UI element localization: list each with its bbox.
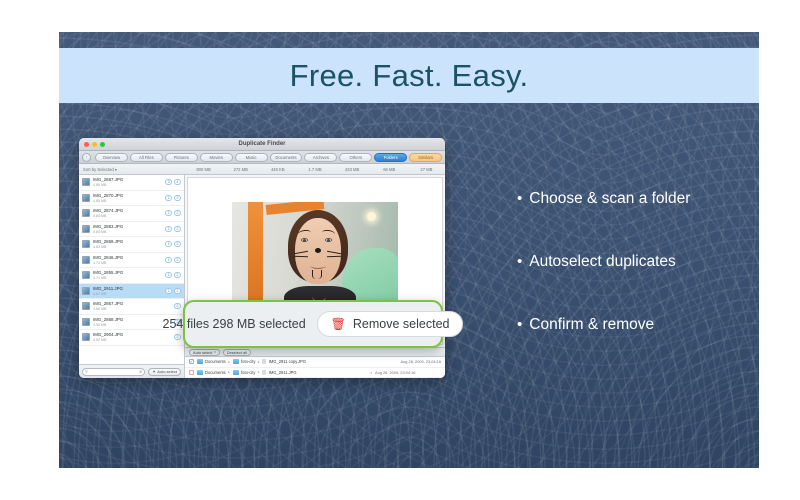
file-name: IMG_2874.JPG: [93, 208, 123, 213]
status-badge: 1: [165, 210, 172, 216]
category-toolbar: ‹ Overview All Files Pictures Movies Mus…: [79, 151, 445, 164]
file-meta: IMG_2887.JPG 4.86 MB: [93, 177, 162, 187]
back-button[interactable]: ‹: [82, 153, 91, 162]
list-item[interactable]: IMG_2887.JPG 4.86 MB 3 4: [79, 175, 184, 191]
remove-selected-label: Remove selected: [353, 317, 450, 331]
tab-all-files[interactable]: All Files: [130, 153, 163, 162]
photo-pupil-right: [327, 239, 330, 242]
path-folder-1: Documents: [205, 370, 226, 375]
badge-group: 1 2: [165, 272, 181, 278]
status-badge: 2: [174, 334, 181, 340]
file-list[interactable]: IMG_2887.JPG 4.86 MB 3 4 IMG_2870.JPG 4.…: [79, 175, 184, 364]
status-badge: 3: [165, 179, 172, 185]
path-separator-icon: ▸: [258, 360, 260, 364]
bullet-dot-icon: •: [517, 317, 522, 332]
file-meta: IMG_2911.JPG 4.67 MB: [93, 286, 162, 296]
status-badge: 1: [165, 288, 172, 294]
file-meta: IMG_2869.JPG 4.83 MB: [93, 239, 162, 249]
status-badge: 2: [174, 288, 181, 294]
row-checkbox[interactable]: [189, 370, 194, 375]
status-badge: 1: [165, 272, 172, 278]
path-separator-icon: ▸: [228, 370, 230, 374]
status-badge: 1: [165, 195, 172, 201]
file-meta: IMG_2904.JPG 4.52 MB: [93, 332, 171, 342]
badge-group: 1 2: [165, 257, 181, 263]
file-meta: IMG_2874.JPG 4.84 MB: [93, 208, 162, 218]
status-badge: 2: [174, 226, 181, 232]
bullet-dot-icon: •: [517, 191, 522, 206]
file-size: 4.86 MB: [93, 183, 106, 187]
badge-group: 1 2: [165, 241, 181, 247]
list-item[interactable]: IMG_2846.JPG 4.73 MB 1 2: [79, 253, 184, 269]
duplicate-action-bar: Auto select ▾ Deselect all: [185, 347, 445, 357]
duplicate-date: Aug 28, 2009, 23:04:16: [401, 359, 441, 364]
duplicate-date: Aug 28, 2009, 23:04:16: [375, 370, 441, 375]
size-cell: 66 MB: [371, 167, 408, 172]
trash-icon: 🗑: [331, 318, 346, 330]
tab-others[interactable]: Others: [339, 153, 372, 162]
file-meta: IMG_2868.JPG 4.55 MB: [93, 317, 171, 327]
list-item-selected[interactable]: IMG_2911.JPG 4.67 MB 1 2: [79, 284, 184, 300]
tab-music[interactable]: Music: [235, 153, 268, 162]
file-meta: IMG_2867.JPG 4.66 MB: [93, 301, 171, 311]
clear-icon[interactable]: ⊗: [139, 369, 142, 374]
file-name: IMG_2904.JPG: [93, 332, 123, 337]
row-checkbox[interactable]: ✓: [189, 359, 194, 364]
image-thumbnail-icon: [82, 287, 90, 295]
tab-similars[interactable]: Similars: [409, 153, 442, 162]
file-name: IMG_2869.JPG: [93, 239, 123, 244]
sort-by-selector[interactable]: Sort by Selected ▾: [79, 167, 185, 172]
duplicate-file-name: IMG_2911.JPG: [269, 370, 297, 375]
list-item: • Autoselect duplicates: [517, 253, 759, 271]
tab-pictures[interactable]: Pictures: [165, 153, 198, 162]
badge-group: 1 2: [165, 288, 181, 294]
list-item[interactable]: IMG_2867.JPG 4.66 MB 2: [79, 299, 184, 315]
file-icon: [262, 359, 266, 364]
list-item[interactable]: IMG_2870.JPG 4.85 MB 1 2: [79, 191, 184, 207]
badge-group: 1 2: [165, 195, 181, 201]
status-badge: 2: [174, 272, 181, 278]
deselect-all-label: Deselect all: [227, 350, 247, 355]
file-name: IMG_2883.JPG: [93, 224, 123, 229]
tab-folders[interactable]: Folders: [374, 153, 407, 162]
path-separator-icon: ▸: [258, 370, 260, 374]
list-item[interactable]: IMG_2883.JPG 4.84 MB 1 2: [79, 222, 184, 238]
status-badge: 1: [165, 257, 172, 263]
file-meta: IMG_2883.JPG 4.84 MB: [93, 224, 162, 234]
deselect-all-button[interactable]: Deselect all: [223, 349, 251, 356]
bullet-dot-icon: •: [517, 254, 522, 269]
file-size: 4.71 MB: [93, 276, 106, 280]
status-badge: 4: [174, 179, 181, 185]
remove-selected-button[interactable]: 🗑 Remove selected: [317, 311, 464, 337]
file-size: 4.67 MB: [93, 292, 106, 296]
size-cell: 27 MB: [408, 167, 445, 172]
file-sidebar: IMG_2887.JPG 4.86 MB 3 4 IMG_2870.JPG 4.…: [79, 175, 185, 378]
image-thumbnail-icon: [82, 178, 90, 186]
image-thumbnail-icon: [82, 302, 90, 310]
photo-chin-markings: [312, 270, 322, 279]
file-name: IMG_2846.JPG: [93, 255, 123, 260]
size-cell: 440 KB: [259, 167, 296, 172]
chevron-down-icon: ▾: [214, 350, 216, 354]
image-thumbnail-icon: [82, 225, 90, 233]
path-folder-1: Documents: [205, 359, 226, 364]
file-name: IMG_2870.JPG: [93, 193, 123, 198]
tab-archives[interactable]: Archives: [304, 153, 337, 162]
badge-group: 3 4: [165, 179, 181, 185]
status-badge: 1: [165, 241, 172, 247]
sparkle-icon: ✦: [152, 369, 155, 374]
file-name: IMG_2887.JPG: [93, 177, 123, 182]
file-size: 4.52 MB: [93, 338, 106, 342]
size-cell: 433 MB: [334, 167, 371, 172]
file-name: IMG_2867.JPG: [93, 301, 123, 306]
file-name: IMG_2855.JPG: [93, 270, 123, 275]
bullet-label: Choose & scan a folder: [529, 190, 690, 208]
table-row[interactable]: ✓ Documents ▸ foto-city ▸ IMG_2911 copy.…: [185, 357, 445, 368]
window-titlebar: Duplicate Finder: [79, 138, 445, 151]
file-meta: IMG_2855.JPG 4.71 MB: [93, 270, 162, 280]
file-icon: [262, 370, 266, 375]
auto-select-label: Auto select: [193, 350, 212, 355]
file-size: 4.55 MB: [93, 323, 106, 327]
file-size: 4.84 MB: [93, 230, 106, 234]
size-cell: 272 MB: [222, 167, 259, 172]
file-name: IMG_2911.JPG: [93, 286, 123, 291]
file-size: 4.66 MB: [93, 307, 106, 311]
folder-icon: [197, 359, 203, 364]
bullet-label: Autoselect duplicates: [529, 253, 675, 271]
bullet-label: Confirm & remove: [529, 316, 654, 334]
sidebar-footer: ⚲ ⊗ ✦ Auto select: [79, 364, 184, 378]
path-folder-2: foto-city: [241, 370, 255, 375]
path-folder-2: foto-city: [241, 359, 255, 364]
auto-select-dropdown-button[interactable]: Auto select ▾: [189, 349, 220, 356]
status-badge: 2: [174, 210, 181, 216]
window-title: Duplicate Finder: [79, 141, 445, 147]
magnifier-icon[interactable]: ⌕: [370, 370, 372, 375]
size-cell: 800 MB: [185, 167, 222, 172]
folder-icon: [233, 359, 239, 364]
photo-lamp: [367, 212, 376, 221]
badge-group: 2: [174, 334, 181, 340]
image-thumbnail-icon: [82, 271, 90, 279]
search-icon: ⚲: [85, 369, 88, 374]
list-item[interactable]: IMG_2874.JPG 4.84 MB 1 2: [79, 206, 184, 222]
duplicate-file-name: IMG_2911 copy.JPG: [269, 359, 306, 364]
size-cells: 800 MB 272 MB 440 KB 1.7 MB 433 MB 66 MB…: [185, 167, 445, 172]
list-item[interactable]: IMG_2855.JPG 4.71 MB 1 2: [79, 268, 184, 284]
status-badge: 1: [165, 226, 172, 232]
badge-group: 1 2: [165, 210, 181, 216]
list-item[interactable]: IMG_2904.JPG 4.52 MB 2: [79, 330, 184, 346]
selection-summary: 254 files 298 MB selected: [163, 317, 306, 331]
auto-select-button[interactable]: ✦ Auto select: [148, 368, 181, 376]
file-size: 4.83 MB: [93, 245, 106, 249]
page-title: Free. Fast. Easy.: [290, 58, 529, 94]
feature-bullet-list: • Choose & scan a folder • Autoselect du…: [517, 190, 759, 379]
file-meta: IMG_2870.JPG 4.85 MB: [93, 193, 162, 203]
list-item: • Choose & scan a folder: [517, 190, 759, 208]
image-thumbnail-icon: [82, 333, 90, 341]
table-row[interactable]: Documents ▸ foto-city ▸ IMG_2911.JPG ⌕ A…: [185, 368, 445, 379]
list-item: • Confirm & remove: [517, 316, 759, 334]
folder-icon: [197, 370, 203, 375]
file-size: 4.84 MB: [93, 214, 106, 218]
size-cell: 1.7 MB: [296, 167, 333, 172]
selection-callout: 254 files 298 MB selected 🗑 Remove selec…: [183, 300, 443, 348]
photo-pupil-left: [303, 239, 306, 242]
photo-cat-nose: [315, 248, 321, 253]
file-meta: IMG_2846.JPG 4.73 MB: [93, 255, 162, 265]
image-thumbnail-icon: [82, 256, 90, 264]
folder-icon: [233, 370, 239, 375]
file-name: IMG_2868.JPG: [93, 317, 123, 322]
path-separator-icon: ▸: [228, 360, 230, 364]
status-badge: 2: [174, 257, 181, 263]
file-size: 4.73 MB: [93, 261, 106, 265]
tab-documents[interactable]: Documents: [270, 153, 303, 162]
promo-canvas: Free. Fast. Easy. • Choose & scan a fold…: [59, 32, 759, 468]
status-badge: 2: [174, 303, 181, 309]
status-badge: 2: [174, 241, 181, 247]
search-input[interactable]: ⚲ ⊗: [82, 368, 145, 376]
size-summary-bar: Sort by Selected ▾ 800 MB 272 MB 440 KB …: [79, 164, 445, 175]
image-thumbnail-icon: [82, 209, 90, 217]
status-badge: 2: [174, 195, 181, 201]
badge-group: 2: [174, 303, 181, 309]
headline-banner: Free. Fast. Easy.: [59, 48, 759, 103]
list-item[interactable]: IMG_2869.JPG 4.83 MB 1 2: [79, 237, 184, 253]
tab-movies[interactable]: Movies: [200, 153, 233, 162]
duplicates-table: ✓ Documents ▸ foto-city ▸ IMG_2911 copy.…: [185, 357, 445, 378]
image-thumbnail-icon: [82, 240, 90, 248]
auto-select-label: Auto select: [157, 369, 177, 374]
photo-mouth: [310, 262, 326, 269]
image-thumbnail-icon: [82, 318, 90, 326]
tab-overview[interactable]: Overview: [95, 153, 128, 162]
badge-group: 1 2: [165, 226, 181, 232]
file-size: 4.85 MB: [93, 199, 106, 203]
image-thumbnail-icon: [82, 194, 90, 202]
